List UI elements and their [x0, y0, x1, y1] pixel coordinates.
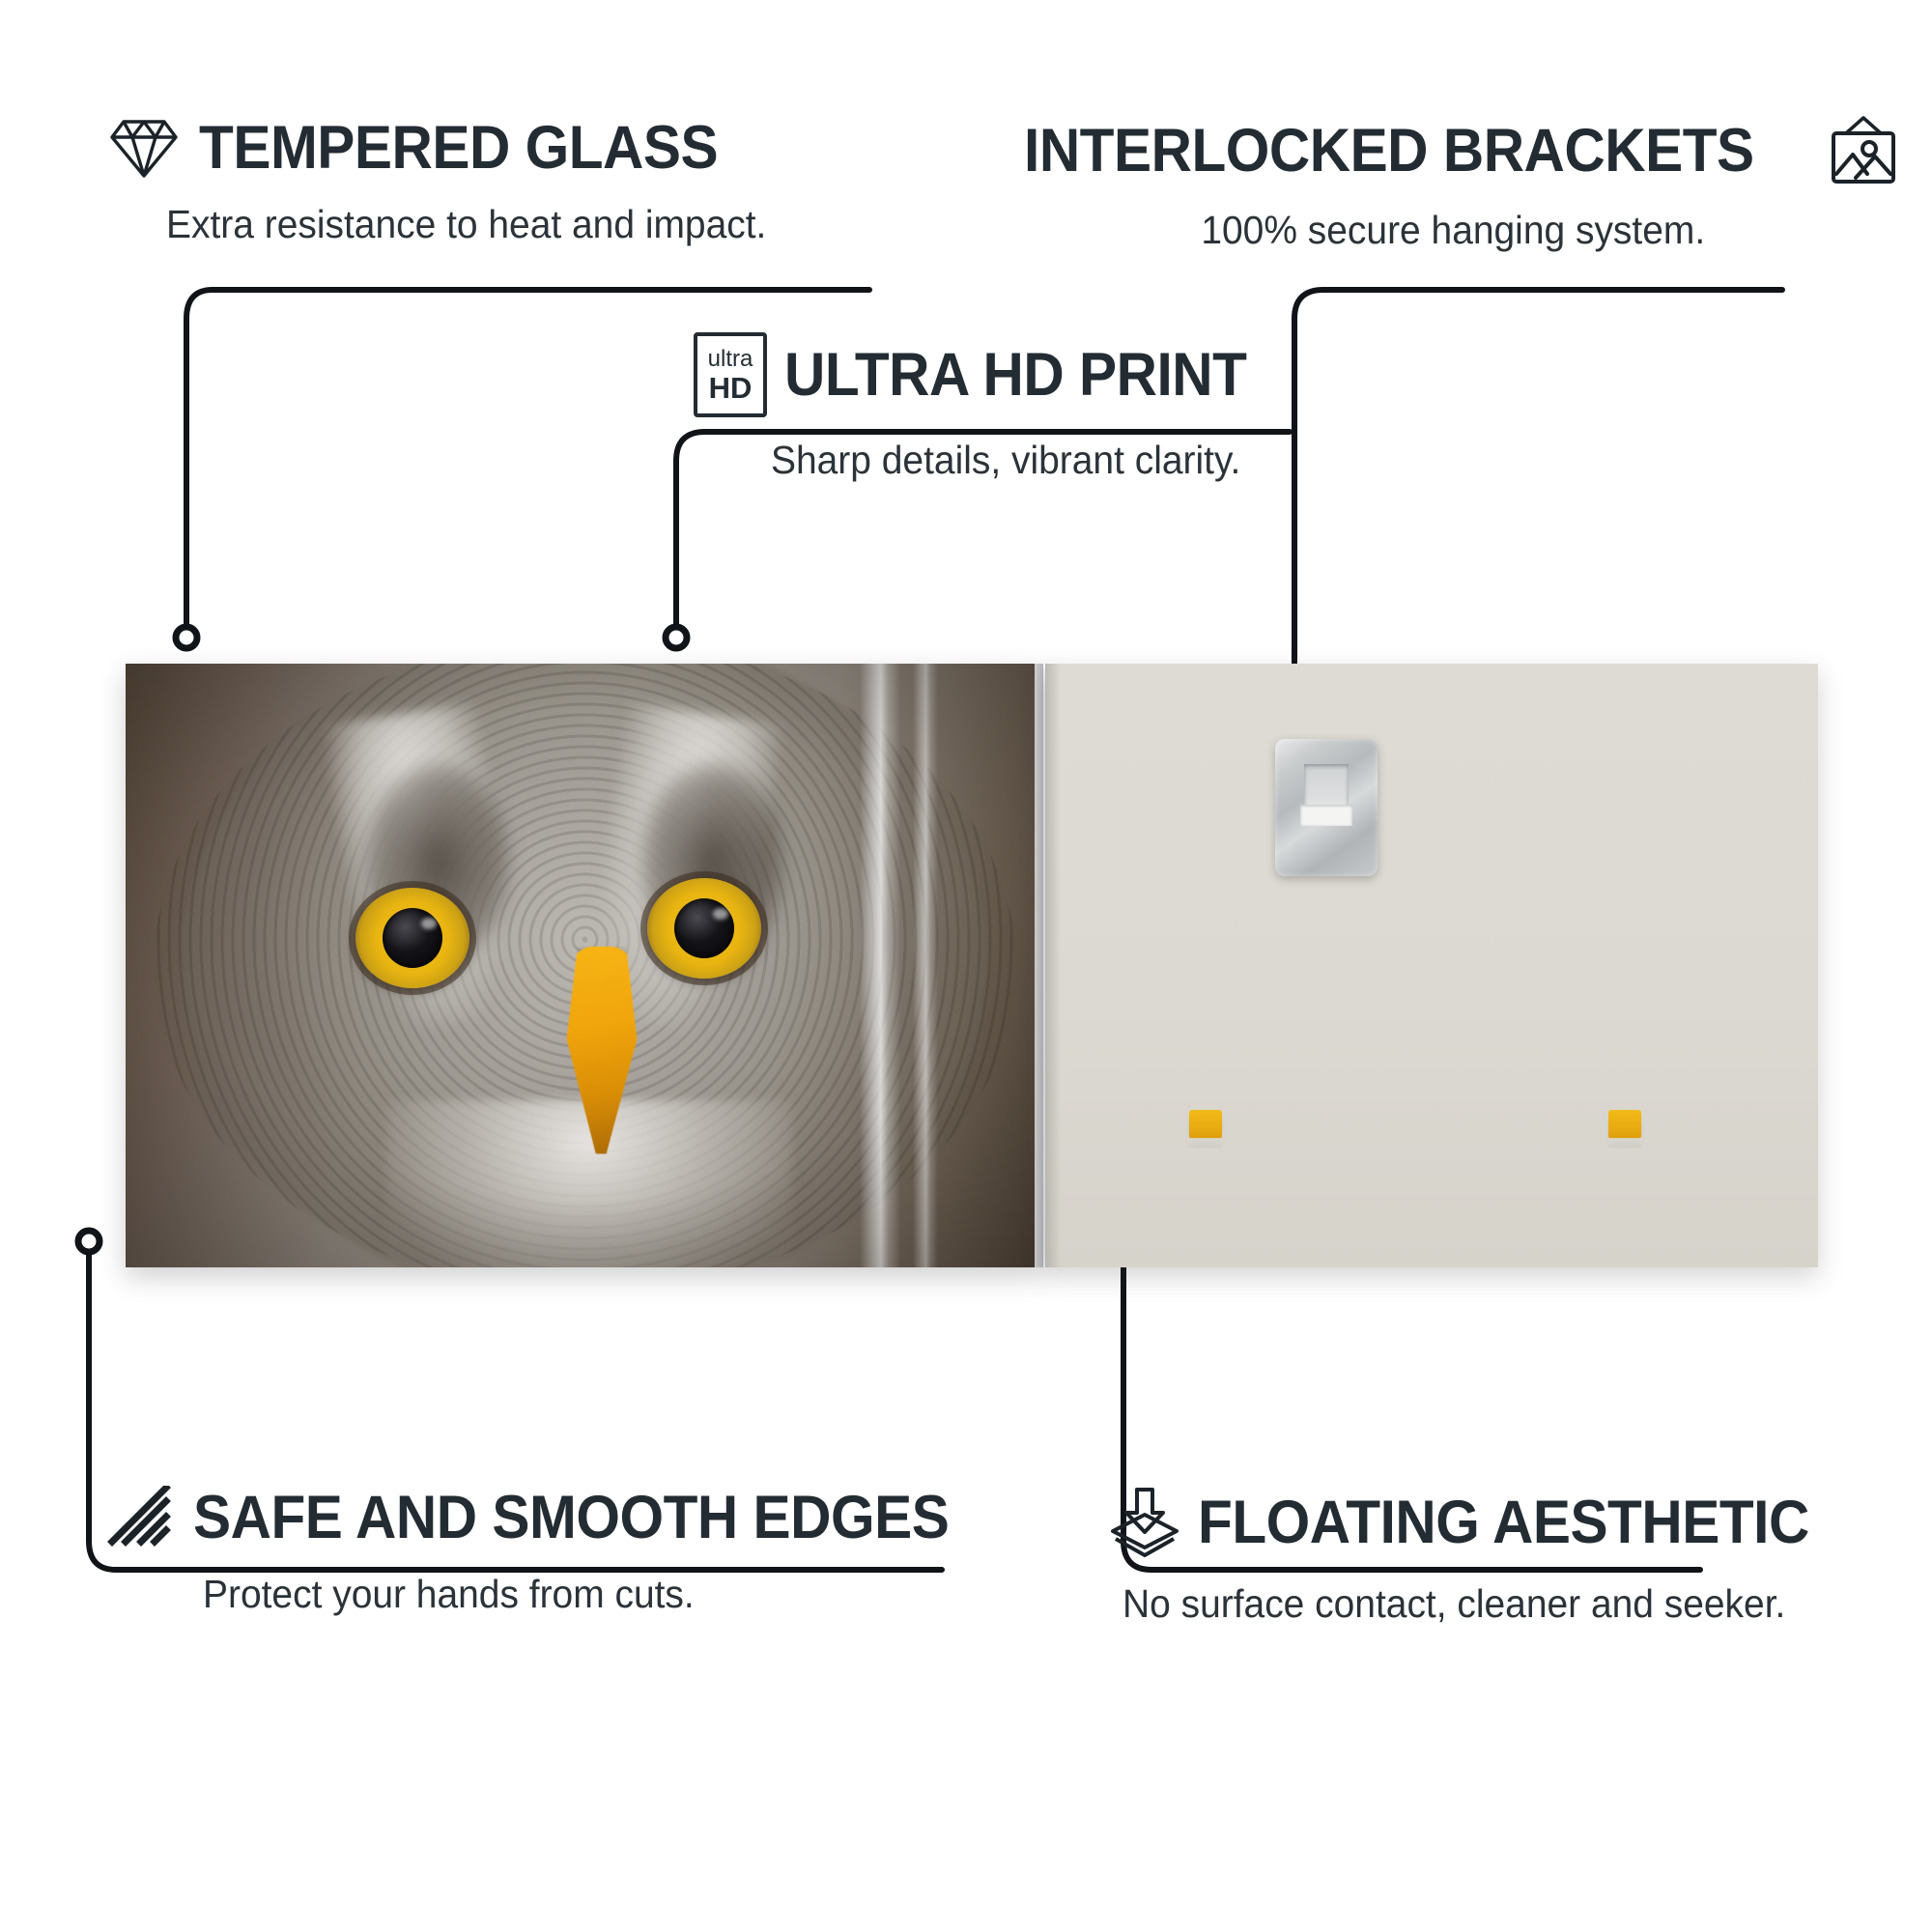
feature-header: FLOATING AESTHETIC: [1109, 1486, 1855, 1559]
spacer-pad-right: [1608, 1110, 1641, 1139]
diamond-icon: [106, 114, 182, 182]
feature-floating-aesthetic: FLOATING AESTHETIC No surface contact, c…: [1109, 1486, 1855, 1626]
ultra-hd-badge-top: ultra: [708, 348, 753, 371]
feature-title: TEMPERED GLASS: [199, 118, 718, 179]
feature-title: ULTRA HD PRINT: [784, 345, 1246, 406]
arrow-down-onto-layers-icon: [1109, 1486, 1180, 1559]
feature-subtitle: Extra resistance to heat and impact.: [166, 203, 766, 246]
feature-subtitle: No surface contact, cleaner and seeker.: [1122, 1582, 1819, 1626]
glass-edge-highlight: [1035, 664, 1043, 1267]
framed-picture-icon: [1827, 114, 1900, 187]
bracket-keyhole-slot: [1304, 764, 1349, 824]
glass-print-back-panel: [1045, 664, 1818, 1267]
connector-dot-safe-edges: [78, 1231, 99, 1252]
spacer-pad-left: [1189, 1110, 1222, 1139]
ultra-hd-badge-icon: ultra HD: [694, 332, 767, 417]
infographic-stage: TEMPERED GLASS Extra resistance to heat …: [0, 0, 1932, 1932]
metal-hanging-bracket: [1275, 739, 1378, 876]
connector-dot-tempered-glass: [176, 627, 197, 648]
feature-subtitle: 100% secure hanging system.: [1045, 209, 1861, 252]
diagonal-edges-icon: [106, 1486, 176, 1549]
feature-header: INTERLOCKED BRACKETS: [1024, 114, 1900, 187]
feature-header: TEMPERED GLASS: [106, 114, 798, 182]
connector-brackets: [1294, 290, 1782, 705]
feature-title: FLOATING AESTHETIC: [1198, 1492, 1809, 1553]
owl-photograph: [126, 664, 1043, 1267]
feature-header: SAFE AND SMOOTH EDGES: [106, 1486, 1006, 1549]
feature-interlocked-brackets: INTERLOCKED BRACKETS 100% secure hanging…: [1024, 114, 1900, 252]
ultra-hd-badge-bottom: HD: [709, 373, 753, 403]
feature-ultra-hd-print: ultra HD ULTRA HD PRINT Sharp details, v…: [694, 332, 1281, 482]
feature-subtitle: Sharp details, vibrant clarity.: [771, 439, 1256, 482]
feature-safe-and-smooth-edges: SAFE AND SMOOTH EDGES Protect your hands…: [106, 1486, 1006, 1616]
owl-vignette: [126, 664, 1043, 1267]
feature-header: ultra HD ULTRA HD PRINT: [694, 332, 1281, 417]
feature-tempered-glass: TEMPERED GLASS Extra resistance to heat …: [106, 114, 798, 246]
feature-subtitle: Protect your hands from cuts.: [203, 1573, 966, 1616]
connector-dot-ultra-hd: [666, 627, 687, 648]
glass-print-front-panel: [126, 664, 1043, 1267]
feature-title: INTERLOCKED BRACKETS: [1024, 121, 1754, 182]
feature-title: SAFE AND SMOOTH EDGES: [193, 1488, 949, 1548]
